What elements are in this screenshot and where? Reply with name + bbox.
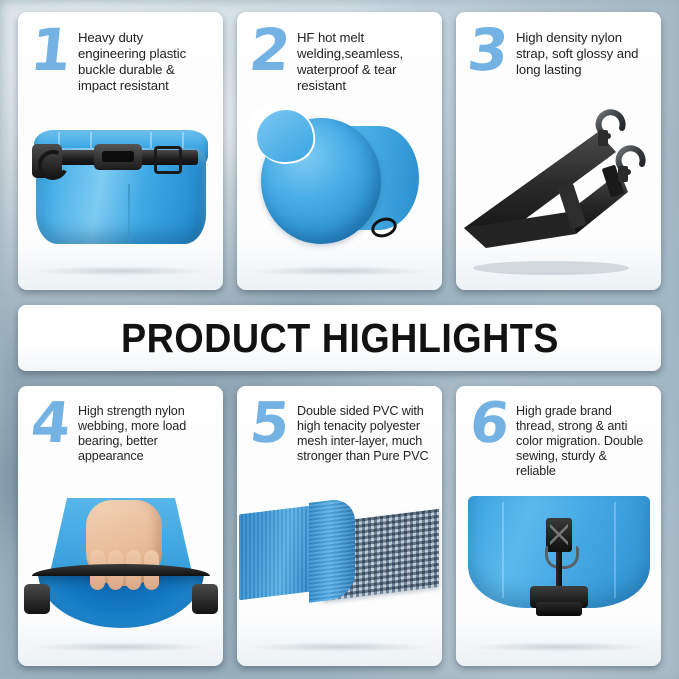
- feature-image-2: [237, 108, 442, 290]
- d-ring-buckle-illustration: [468, 496, 650, 628]
- feature-text-5: Double sided PVC with high tenacity poly…: [297, 400, 430, 464]
- feature-image-3: [456, 108, 661, 290]
- feature-text-2: HF hot melt welding,seamless, waterproof…: [297, 26, 430, 94]
- feature-image-1: [18, 108, 223, 290]
- feature-number-6: 6: [462, 400, 514, 480]
- feature-card-1[interactable]: 1 Heavy duty engineering plastic buckle …: [18, 12, 223, 290]
- feature-header-4: 4 High strength nylon webbing, more load…: [18, 386, 223, 464]
- feature-image-5: [237, 490, 442, 666]
- feature-image-4: [18, 490, 223, 666]
- feature-text-1: Heavy duty engineering plastic buckle du…: [78, 26, 211, 94]
- feature-number-4: 4: [25, 400, 76, 464]
- feature-number-2: 2: [243, 26, 294, 94]
- feature-card-2[interactable]: 2 HF hot melt welding,seamless, waterpro…: [237, 12, 442, 290]
- pvc-mesh-illustration: [237, 490, 442, 666]
- feature-header-2: 2 HF hot melt welding,seamless, waterpro…: [237, 12, 442, 94]
- shoulder-strap-illustration: [456, 108, 661, 290]
- feature-number-5: 5: [244, 400, 295, 464]
- feature-text-6: High grade brand thread, strong & anti c…: [516, 400, 649, 480]
- seamless-bottom-illustration: [253, 114, 429, 254]
- feature-header-1: 1 Heavy duty engineering plastic buckle …: [18, 12, 223, 94]
- infographic-root: 1 Heavy duty engineering plastic buckle …: [0, 0, 679, 679]
- product-highlights-banner: PRODUCT HIGHLIGHTS: [18, 305, 661, 371]
- hand-handle-illustration: [24, 498, 218, 638]
- feature-number-1: 1: [24, 26, 75, 94]
- feature-card-4[interactable]: 4 High strength nylon webbing, more load…: [18, 386, 223, 666]
- feature-card-3[interactable]: 3 High density nylon strap, soft glossy …: [456, 12, 661, 290]
- feature-card-5[interactable]: 5 Double sided PVC with high tenacity po…: [237, 386, 442, 666]
- feature-number-3: 3: [463, 26, 512, 78]
- feature-text-3: High density nylon strap, soft glossy an…: [516, 26, 649, 78]
- feature-card-6[interactable]: 6 High grade brand thread, strong & anti…: [456, 386, 661, 666]
- banner-title: PRODUCT HIGHLIGHTS: [121, 315, 559, 362]
- feature-header-6: 6 High grade brand thread, strong & anti…: [456, 386, 661, 480]
- feature-text-4: High strength nylon webbing, more load b…: [78, 400, 211, 464]
- feature-header-3: 3 High density nylon strap, soft glossy …: [456, 12, 661, 78]
- feature-image-6: [456, 490, 661, 666]
- dry-bag-buckle-illustration: [32, 126, 210, 246]
- feature-header-5: 5 Double sided PVC with high tenacity po…: [237, 386, 442, 464]
